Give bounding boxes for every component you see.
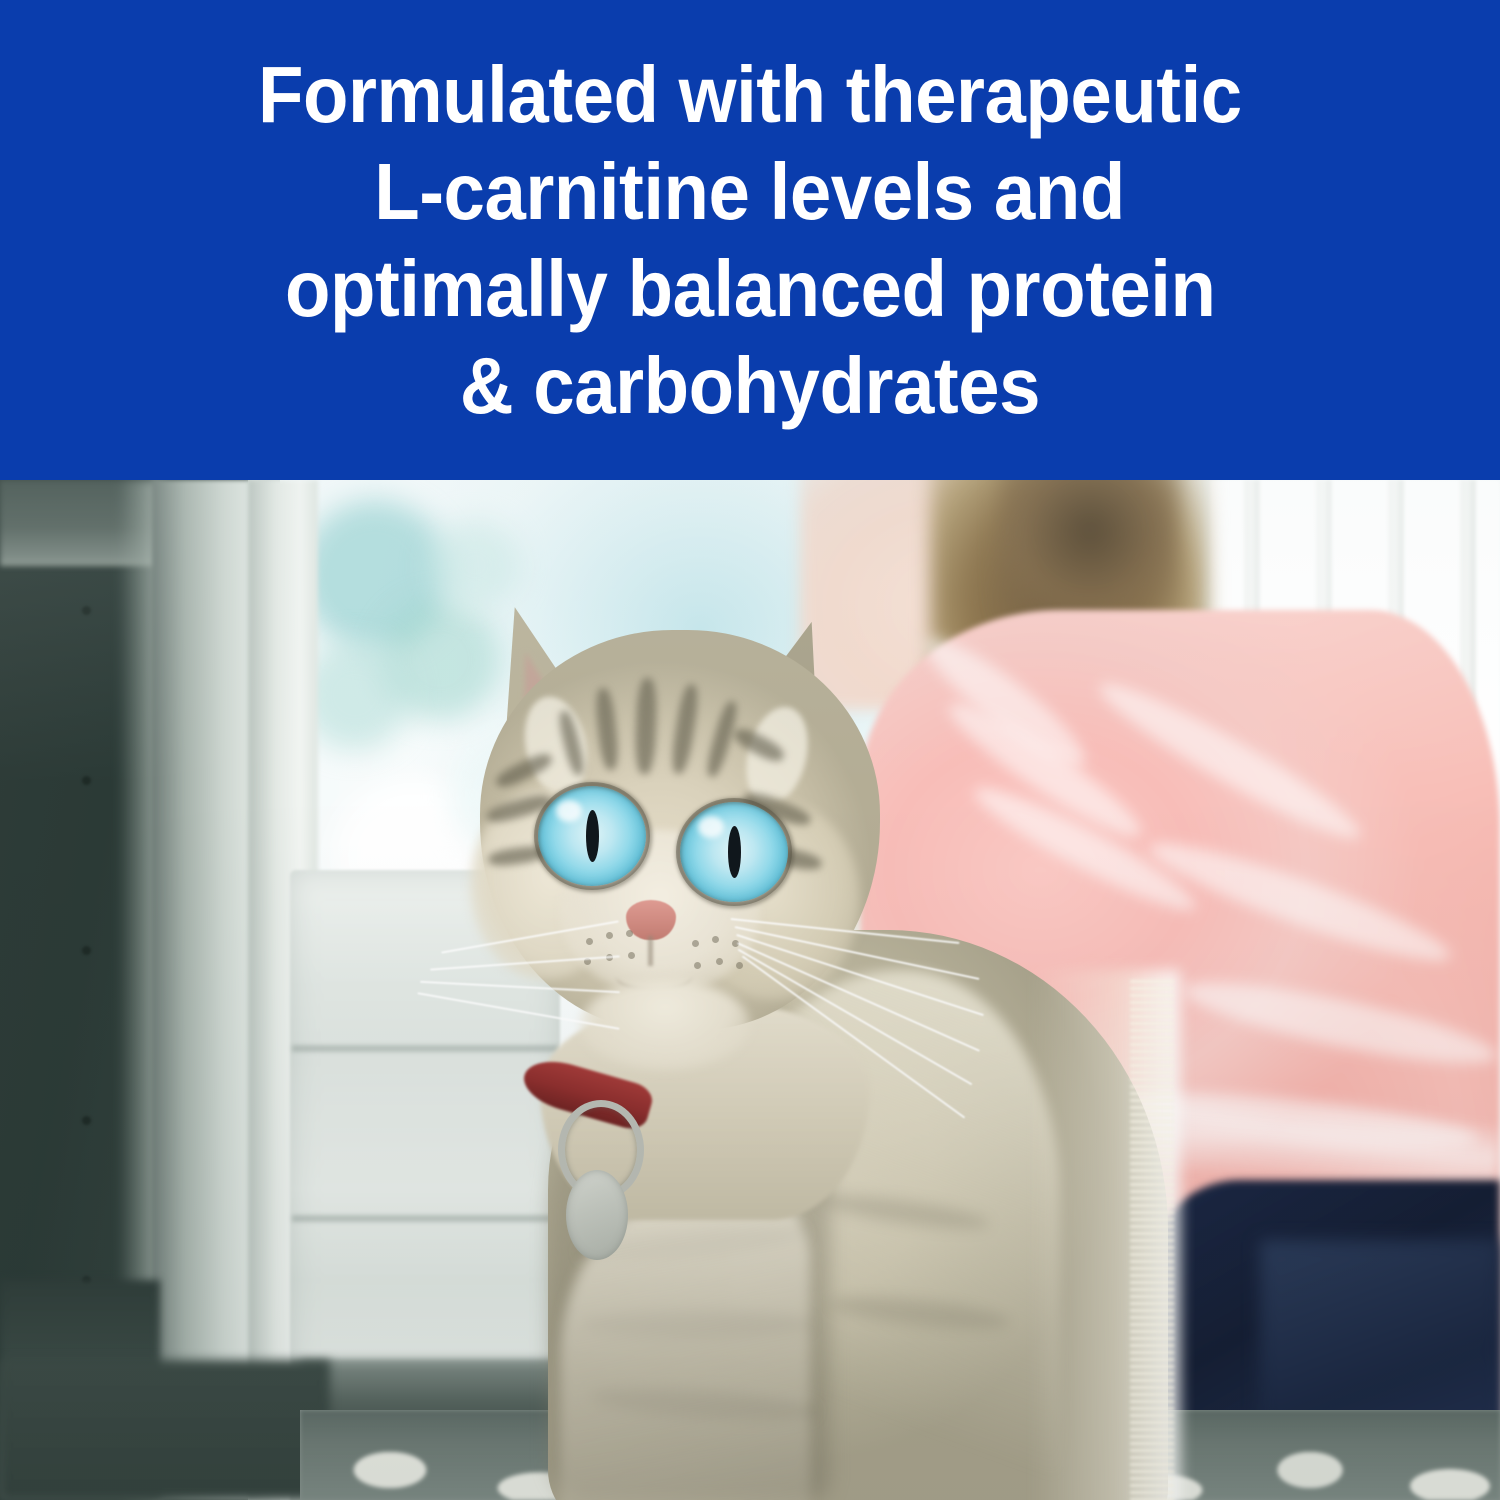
cabinet-peg-holes — [82, 576, 92, 1376]
cat-id-tag — [566, 1170, 628, 1260]
headline-line-1: Formulated with therapeutic — [258, 46, 1242, 143]
headline-line-2: L-carnitine levels and — [375, 143, 1126, 240]
headline-line-3: optimally balanced protein — [285, 240, 1215, 337]
cat-fur-edge — [1130, 980, 1174, 1500]
cat-eye-rim — [676, 798, 794, 908]
cat — [430, 500, 1190, 1500]
headline-line-4: & carbohydrates — [460, 337, 1040, 434]
cat-eye-rim — [534, 782, 652, 892]
floor-shadow — [0, 1360, 330, 1500]
product-feature-image: Formulated with therapeutic L-carnitine … — [0, 0, 1500, 1500]
lifestyle-photo — [0, 480, 1500, 1500]
headline-banner: Formulated with therapeutic L-carnitine … — [0, 0, 1500, 480]
